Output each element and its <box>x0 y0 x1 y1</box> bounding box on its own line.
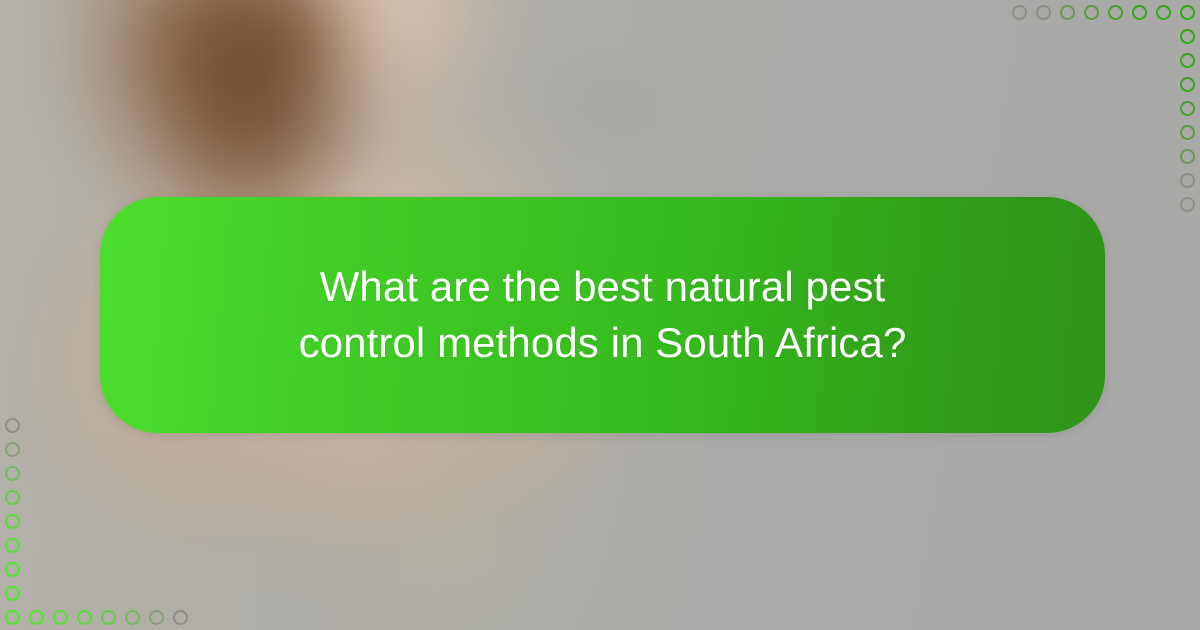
decorative-ring-tr-row-0 <box>1012 5 1027 20</box>
decorative-ring-tr-row-4 <box>1108 5 1123 20</box>
decorative-ring-bl-col-1 <box>5 442 20 457</box>
question-card-canvas: What are the best natural pest control m… <box>0 0 1200 630</box>
question-banner: What are the best natural pest control m… <box>100 197 1105 433</box>
decorative-ring-bl-row-1 <box>29 610 44 625</box>
decorative-ring-bl-row-7 <box>173 610 188 625</box>
decorative-dots-bottom-left <box>0 430 210 630</box>
decorative-ring-bl-row-5 <box>125 610 140 625</box>
decorative-ring-bl-row-3 <box>77 610 92 625</box>
decorative-ring-bl-col-3 <box>5 490 20 505</box>
decorative-ring-tr-col-5 <box>1180 149 1195 164</box>
decorative-ring-tr-col-7 <box>1180 197 1195 212</box>
decorative-ring-tr-row-3 <box>1084 5 1099 20</box>
decorative-ring-bl-col-4 <box>5 514 20 529</box>
decorative-ring-tr-col-0 <box>1180 29 1195 44</box>
decorative-ring-tr-col-3 <box>1180 101 1195 116</box>
decorative-ring-tr-row-7 <box>1180 5 1195 20</box>
decorative-ring-bl-row-6 <box>149 610 164 625</box>
decorative-ring-bl-col-5 <box>5 538 20 553</box>
decorative-ring-tr-col-2 <box>1180 77 1195 92</box>
decorative-ring-bl-col-2 <box>5 466 20 481</box>
decorative-ring-bl-col-0 <box>5 418 20 433</box>
decorative-ring-tr-col-1 <box>1180 53 1195 68</box>
question-text: What are the best natural pest control m… <box>223 259 983 371</box>
decorative-ring-tr-row-1 <box>1036 5 1051 20</box>
decorative-ring-tr-row-5 <box>1132 5 1147 20</box>
decorative-ring-tr-row-6 <box>1156 5 1171 20</box>
decorative-ring-bl-col-7 <box>5 586 20 601</box>
decorative-ring-bl-row-0 <box>5 610 20 625</box>
decorative-ring-bl-col-6 <box>5 562 20 577</box>
decorative-ring-bl-row-2 <box>53 610 68 625</box>
decorative-ring-tr-col-6 <box>1180 173 1195 188</box>
decorative-ring-tr-row-2 <box>1060 5 1075 20</box>
decorative-ring-bl-row-4 <box>101 610 116 625</box>
decorative-ring-tr-col-4 <box>1180 125 1195 140</box>
decorative-dots-top-right <box>990 0 1200 200</box>
